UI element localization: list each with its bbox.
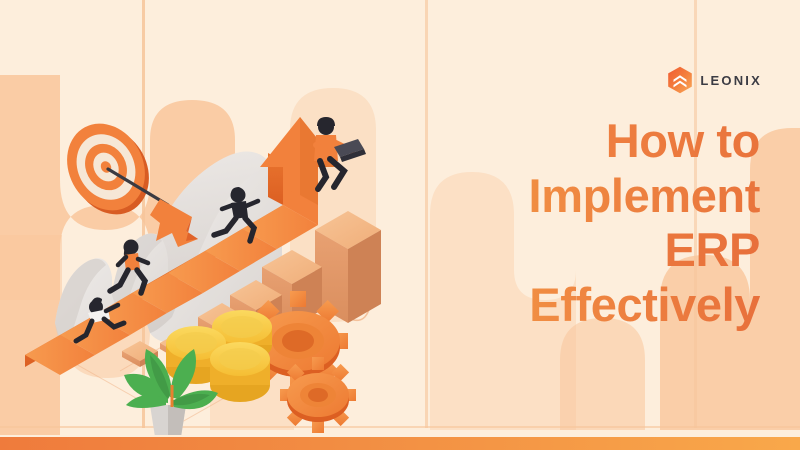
dartboard-target [52,110,198,247]
headline-line-3: ERP [300,223,760,278]
brand-name: LEONIX [700,74,762,87]
gear-small [280,357,356,433]
bottom-accent-bar [0,437,800,450]
brand-logo[interactable]: LEONIX [667,66,762,94]
headline-line-1: How to [300,114,760,169]
headline-line-2: Implement [300,169,760,224]
banner-canvas: LEONIX How to Implement ERP Effectively [0,0,800,450]
hexagon-chevrons-icon [667,66,693,94]
page-title: How to Implement ERP Effectively [300,114,760,332]
headline-line-4: Effectively [300,278,760,333]
